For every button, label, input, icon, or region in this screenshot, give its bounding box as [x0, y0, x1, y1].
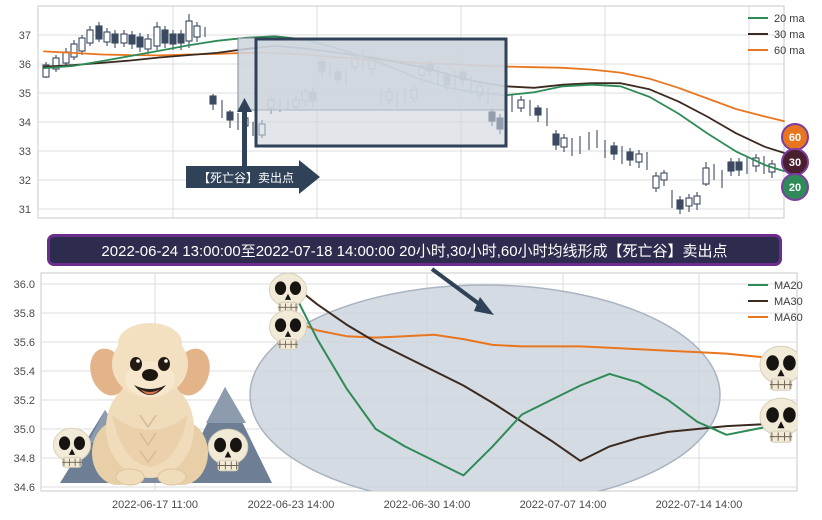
- top-candlestick-chart: 37 36 35 34 33 32 31: [0, 0, 822, 230]
- top-legend-label-30ma: 30 ma: [774, 29, 805, 41]
- screenshot-root: 37 36 35 34 33 32 31: [0, 0, 822, 520]
- bottom-legend-label-ma20: MA20: [774, 280, 803, 292]
- top-ytick-34: 34: [19, 117, 31, 129]
- bottom-ytick-35-2: 35.2: [14, 395, 35, 407]
- bottom-xtick-0: 2022-06-17 11:00: [112, 499, 198, 511]
- bottom-xtick-2: 2022-06-30 14:00: [384, 499, 471, 511]
- bottom-x-axis-labels: 2022-06-17 11:00 2022-06-23 14:00 2022-0…: [112, 499, 742, 511]
- bottom-ma-chart: 36.0 35.8 35.6 35.4 35.2 35.0 34.8 34.6 …: [0, 265, 822, 520]
- highlight-rect-outer: [256, 39, 506, 146]
- bottom-ytick-36-0: 36.0: [14, 279, 35, 291]
- death-valley-ellipse: [250, 285, 720, 505]
- top-ytick-37: 37: [19, 30, 31, 42]
- bottom-ytick-34-6: 34.6: [14, 482, 35, 494]
- bottom-xtick-4: 2022-07-14 14:00: [656, 499, 743, 511]
- bottom-legend-label-ma30: MA30: [774, 296, 803, 308]
- bottom-y-axis-labels: 36.0 35.8 35.6 35.4 35.2 35.0 34.8 34.6: [14, 279, 35, 494]
- badge-60-label: 60: [789, 132, 801, 144]
- top-ytick-36: 36: [19, 59, 31, 71]
- top-chart-svg: 37 36 35 34 33 32 31: [0, 0, 822, 232]
- bottom-legend-label-ma60: MA60: [774, 312, 803, 324]
- top-ytick-35: 35: [19, 88, 31, 100]
- bottom-xtick-3: 2022-07-07 14:00: [520, 499, 607, 511]
- bottom-ytick-34-8: 34.8: [14, 453, 35, 465]
- top-y-axis-labels: 37 36 35 34 33 32 31: [19, 30, 31, 216]
- top-ytick-33: 33: [19, 146, 31, 158]
- badge-20-label: 20: [789, 182, 801, 194]
- bottom-ytick-35-6: 35.6: [14, 337, 35, 349]
- top-ytick-31: 31: [19, 204, 31, 216]
- bottom-ytick-35-0: 35.0: [14, 424, 35, 436]
- top-ytick-32: 32: [19, 175, 31, 187]
- bottom-ytick-35-4: 35.4: [14, 366, 35, 378]
- bottom-xtick-1: 2022-06-23 14:00: [248, 499, 335, 511]
- badge-30-label: 30: [789, 157, 801, 169]
- bottom-ytick-35-8: 35.8: [14, 308, 35, 320]
- ma-badges: 60 30 20: [782, 124, 808, 200]
- top-legend-label-20ma: 20 ma: [774, 13, 805, 25]
- death-valley-banner: 2022-06-24 13:00:00至2022-07-18 14:00:00 …: [47, 234, 782, 266]
- bottom-chart-svg: 36.0 35.8 35.6 35.4 35.2 35.0 34.8 34.6 …: [0, 265, 822, 520]
- top-legend-label-60ma: 60 ma: [774, 45, 805, 57]
